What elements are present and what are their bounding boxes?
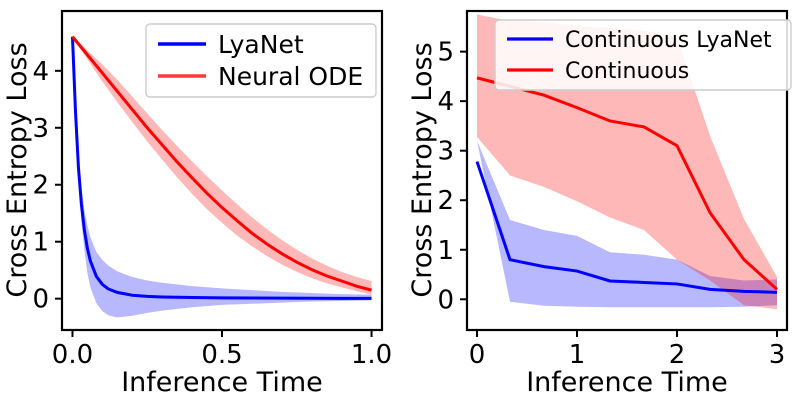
y-tick-labels-right: 012345 xyxy=(437,38,454,316)
legend-label-continuous-lyanet: Continuous LyaNet xyxy=(565,28,772,53)
y-tick-label: 3 xyxy=(437,137,454,167)
chart-panel-left: 0.00.51.0 01234 Inference Time Cross Ent… xyxy=(0,0,406,404)
chart-svg-right: 0123 012345 Inference Time Cross Entropy… xyxy=(405,0,811,404)
y-axis-title-right: Cross Entropy Loss xyxy=(407,42,438,297)
chart-panel-right: 0123 012345 Inference Time Cross Entropy… xyxy=(405,0,811,404)
x-tick-label: 0 xyxy=(469,340,486,370)
legend-right[interactable]: Continuous LyaNet Continuous xyxy=(495,20,791,90)
x-tick-label: 2 xyxy=(669,340,686,370)
x-tick-label: 0.5 xyxy=(201,340,242,370)
y-tick-label: 1 xyxy=(32,228,49,258)
y-tick-label: 2 xyxy=(437,186,454,216)
legend-left[interactable]: LyaNet Neural ODE xyxy=(146,24,376,97)
y-tick-labels-left: 01234 xyxy=(32,57,49,315)
y-tick-label: 0 xyxy=(32,285,49,315)
y-tick-label: 3 xyxy=(32,114,49,144)
legend-label-lyanet: LyaNet xyxy=(218,30,304,59)
x-axis-title-right: Inference Time xyxy=(526,367,728,398)
y-tick-label: 4 xyxy=(32,57,49,87)
y-tick-label: 0 xyxy=(437,285,454,315)
x-axis-title-left: Inference Time xyxy=(121,367,323,398)
x-tick-label: 3 xyxy=(769,340,786,370)
figure-container: 0.00.51.0 01234 Inference Time Cross Ent… xyxy=(0,0,811,404)
y-tick-label: 4 xyxy=(437,87,454,117)
x-tick-labels-right: 0123 xyxy=(469,340,786,370)
y-tick-label: 1 xyxy=(437,236,454,266)
x-tick-label: 0.0 xyxy=(52,340,93,370)
x-tick-label: 1.0 xyxy=(351,340,392,370)
chart-svg-left: 0.00.51.0 01234 Inference Time Cross Ent… xyxy=(0,0,406,404)
legend-label-neural-ode: Neural ODE xyxy=(218,62,363,91)
x-tick-label: 1 xyxy=(569,340,586,370)
x-tick-labels-left: 0.00.51.0 xyxy=(52,340,392,370)
y-tick-label: 2 xyxy=(32,171,49,201)
y-axis-title-left: Cross Entropy Loss xyxy=(2,42,33,297)
legend-label-continuous: Continuous xyxy=(565,59,689,84)
y-tick-label: 5 xyxy=(437,38,454,68)
